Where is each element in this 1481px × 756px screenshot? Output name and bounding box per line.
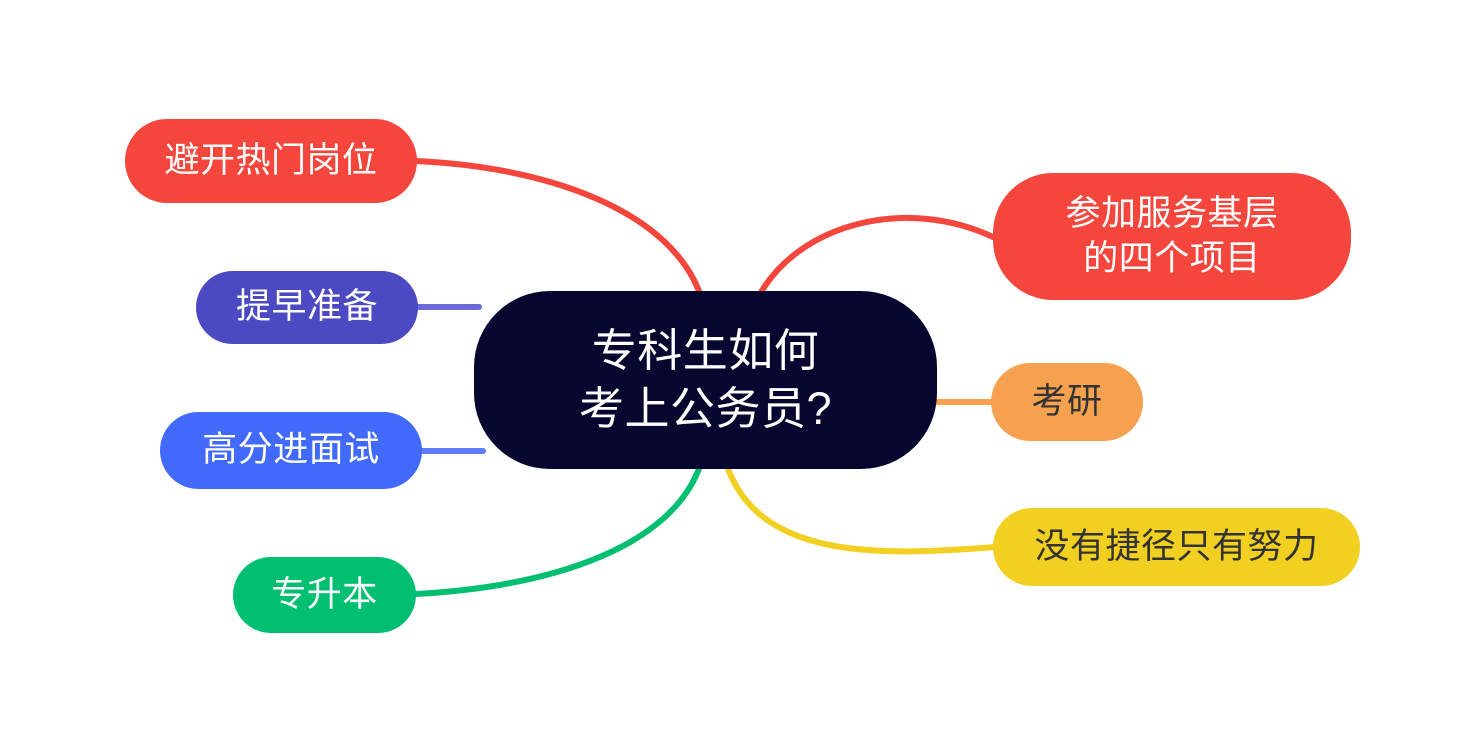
connector-college-to-bachelor [416,466,700,594]
connector-grassroots-programs [760,218,993,294]
branch-node-prepare-early[interactable]: 提早准备 [196,271,418,344]
central-node-label: 专科生如何 考上公务员? [579,322,832,437]
branch-node-grassroots-programs[interactable]: 参加服务基层 的四个项目 [993,173,1351,300]
branch-label-no-shortcut-only-effort: 没有捷径只有努力 [1034,525,1318,570]
branch-node-postgraduate-exam[interactable]: 考研 [991,363,1143,441]
connector-no-shortcut-only-effort [727,466,995,551]
branch-label-grassroots-programs: 参加服务基层 的四个项目 [1065,192,1278,282]
branch-label-avoid-popular-posts: 避开热门岗位 [164,139,377,184]
branch-label-postgraduate-exam: 考研 [1031,380,1102,425]
branch-label-prepare-early: 提早准备 [236,285,378,330]
branch-node-avoid-popular-posts[interactable]: 避开热门岗位 [125,119,417,203]
branch-node-no-shortcut-only-effort[interactable]: 没有捷径只有努力 [993,508,1360,586]
central-node[interactable]: 专科生如何 考上公务员? [474,291,937,469]
mind-map-canvas: 专科生如何 考上公务员? 避开热门岗位 提早准备 高分进面试 专升本 参加服务基… [0,0,1481,756]
branch-node-high-score-interview[interactable]: 高分进面试 [160,412,422,489]
branch-node-college-to-bachelor[interactable]: 专升本 [233,557,416,633]
connector-avoid-popular-posts [417,161,700,294]
branch-label-high-score-interview: 高分进面试 [202,428,380,473]
branch-label-college-to-bachelor: 专升本 [271,573,378,618]
